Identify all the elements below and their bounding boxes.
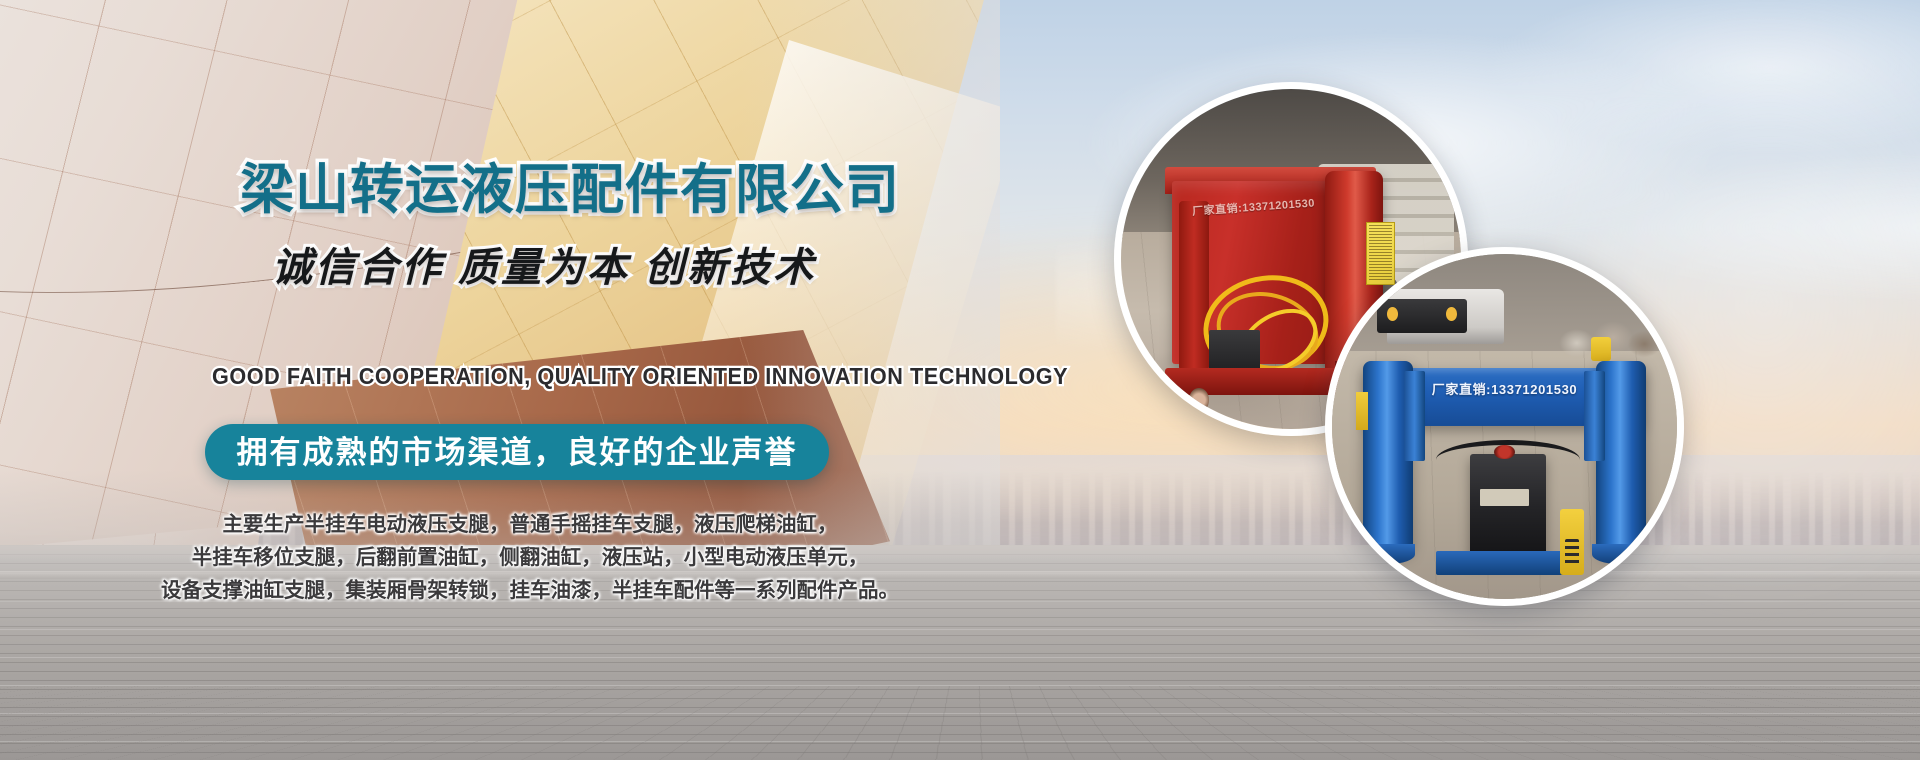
plaza-perspective-lines xyxy=(0,686,1920,760)
red-machine-leg xyxy=(1179,201,1210,371)
company-slogan-en: GOOD FAITH COOPERATION, QUALITY ORIENTED… xyxy=(212,365,1068,388)
highlight-pill-label: 拥有成熟的市场渠道，良好的企业声誉 xyxy=(237,437,798,468)
blue-landing-gear-photo: 厂家直销:13371201530 xyxy=(1325,247,1684,606)
highlight-pill: 拥有成熟的市场渠道，良好的企业声誉 xyxy=(205,424,829,480)
company-title: 梁山转运液压配件有限公司 xyxy=(240,163,900,217)
company-hero-banner: 厂家直销:13371201530 厂家直销:13371201530 xyxy=(0,0,1920,760)
power-pack-label xyxy=(1480,489,1528,506)
description-line-3: 设备支撑油缸支腿，集装厢骨架转锁，挂车油漆，半挂车配件等一系列配件产品。 xyxy=(150,574,910,607)
blue-foot-right xyxy=(1592,544,1647,565)
blue-base-plate xyxy=(1436,551,1581,575)
blue-collar-right xyxy=(1584,371,1605,461)
yellow-label-tab xyxy=(1356,392,1368,430)
vehicle-lamp-right xyxy=(1446,307,1457,321)
blue-collar-left xyxy=(1404,371,1425,461)
company-slogan-cn: 诚信合作 质量为本 创新技术 xyxy=(272,248,816,288)
description-line-2: 半挂车移位支腿，后翻前置油缸，侧翻油缸，液压站，小型电动液压单元， xyxy=(150,541,910,574)
yellow-pendant-control xyxy=(1560,509,1584,575)
product-description: 主要生产半挂车电动液压支腿，普通手摇挂车支腿，液压爬梯油缸， 半挂车移位支腿，后… xyxy=(150,508,910,607)
yellow-control-box-far xyxy=(1591,337,1612,361)
description-line-1: 主要生产半挂车电动液压支腿，普通手摇挂车支腿，液压爬梯油缸， xyxy=(150,508,910,541)
blue-unit-power-pack xyxy=(1470,454,1546,561)
